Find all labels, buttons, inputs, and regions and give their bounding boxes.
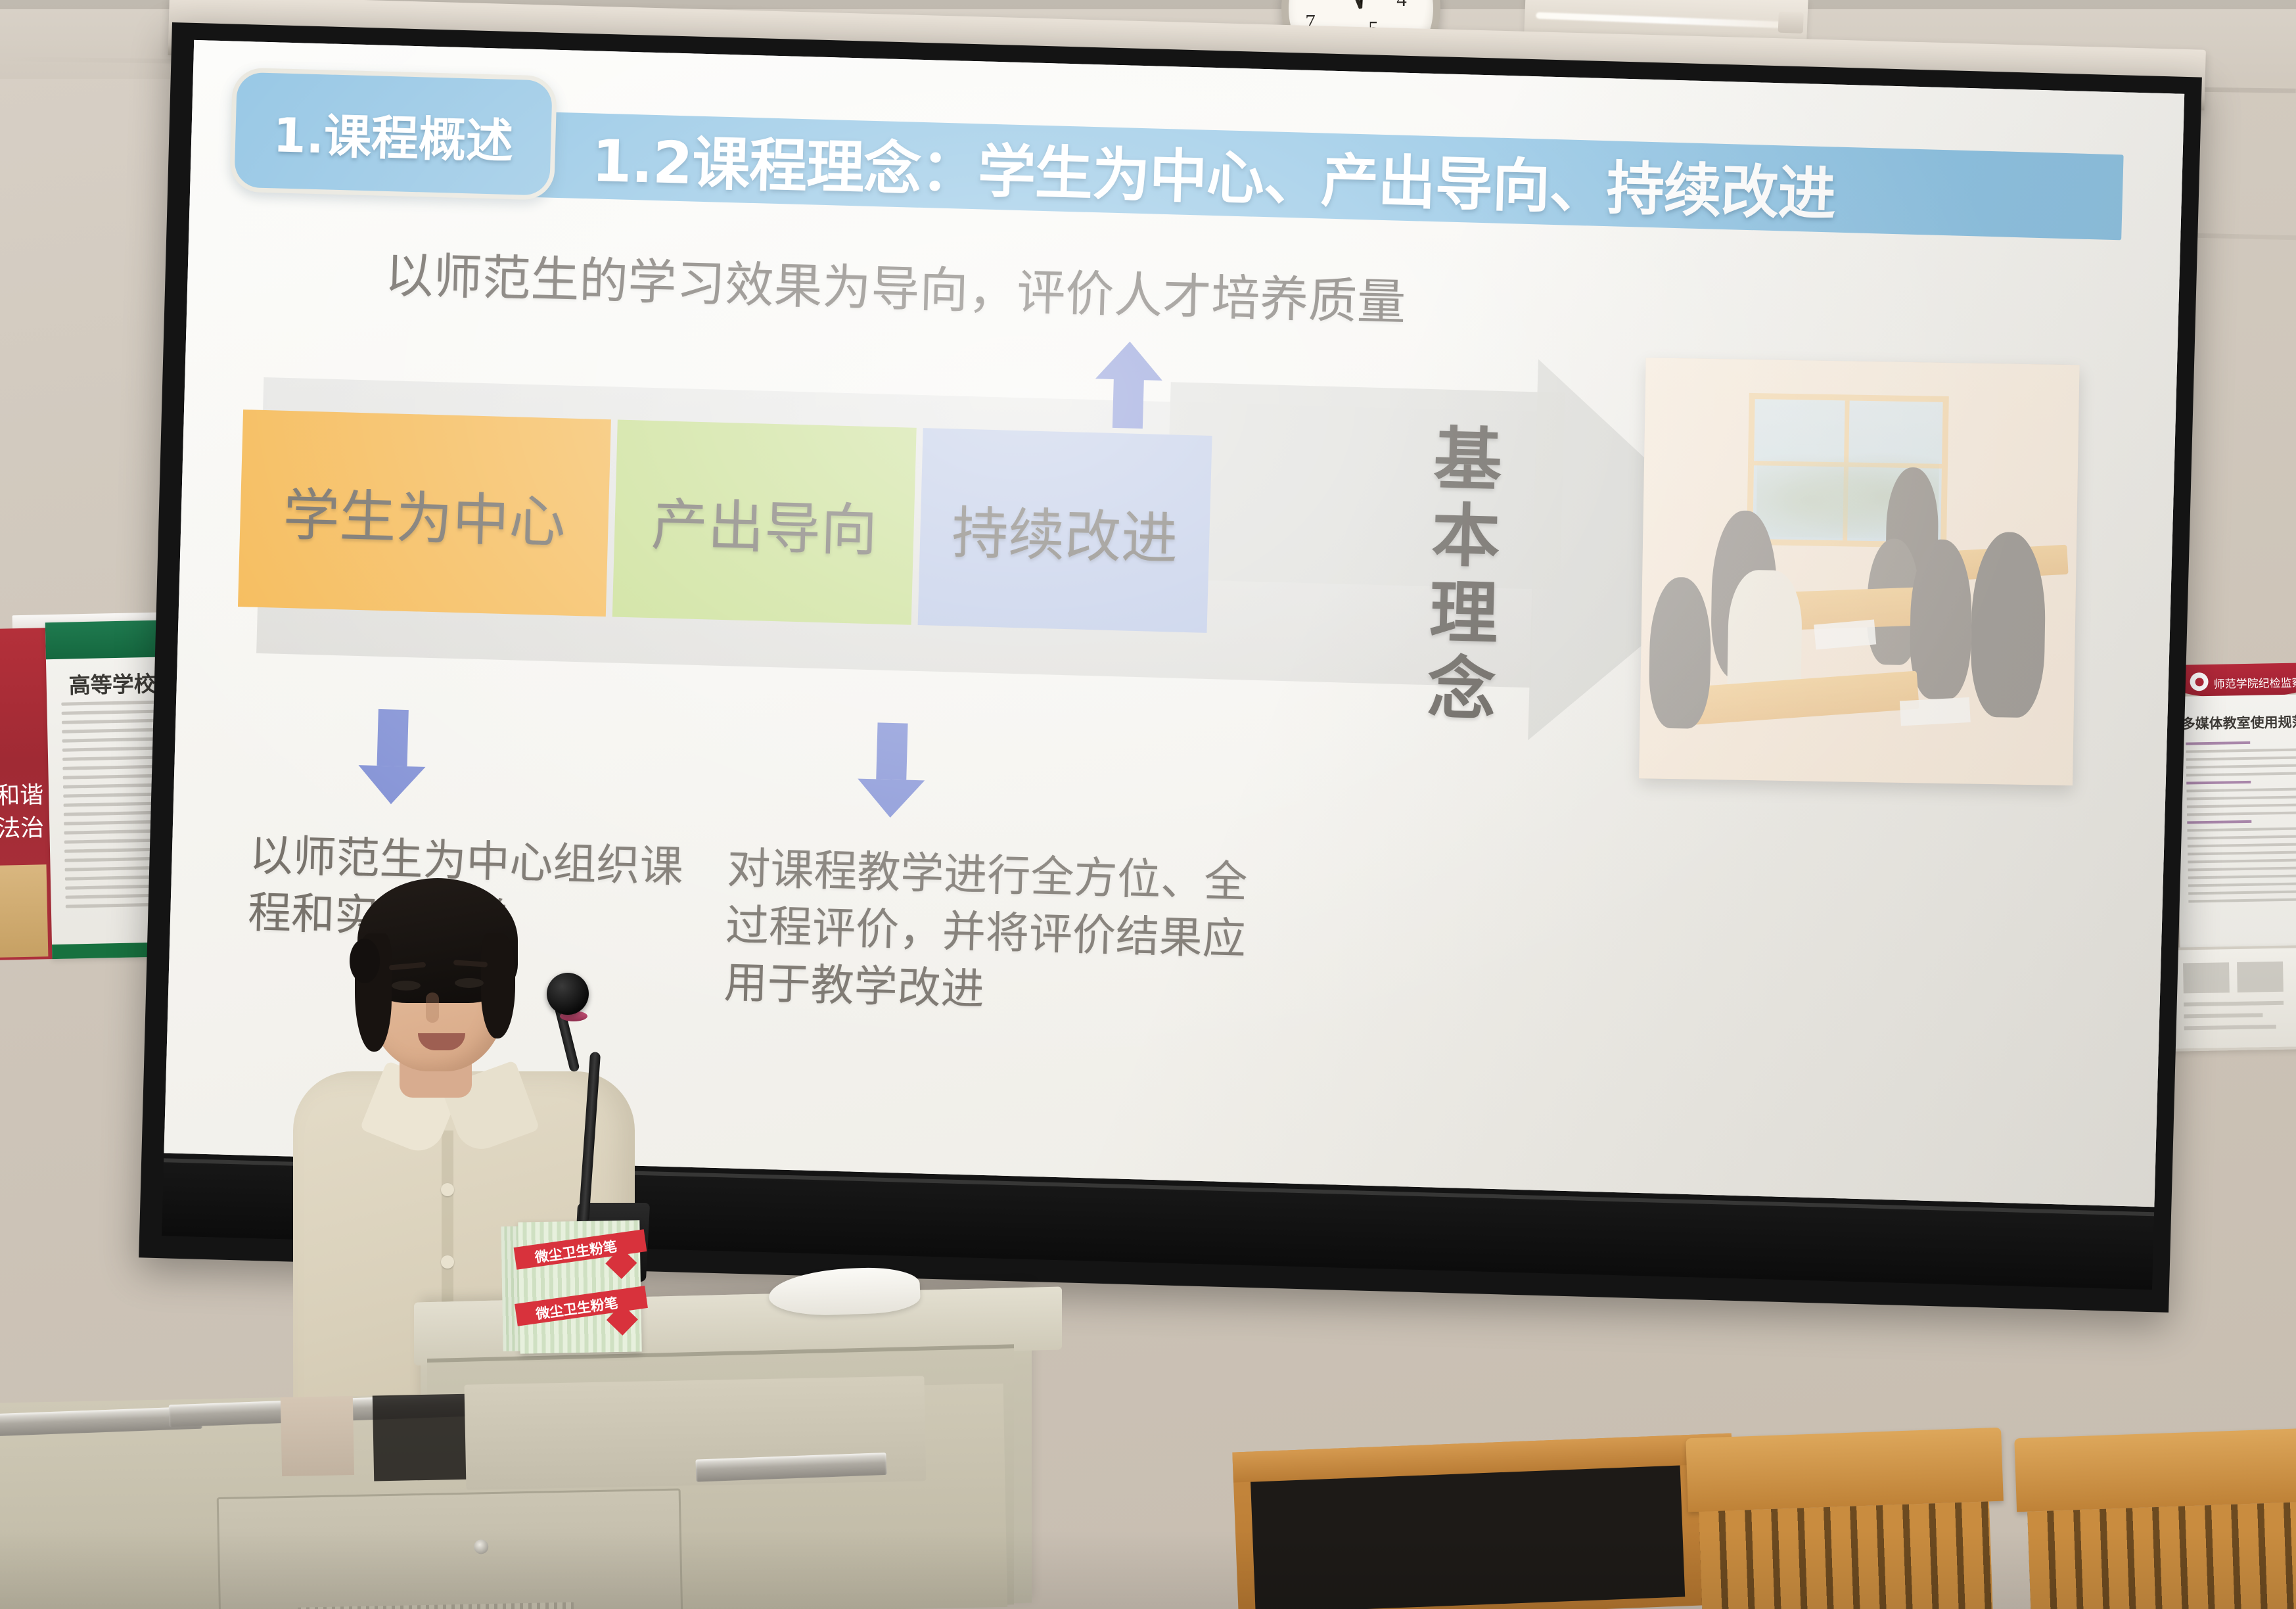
presenter-eye-left bbox=[392, 981, 421, 991]
chair-crest-rail bbox=[1686, 1428, 2004, 1512]
presenter-nose bbox=[426, 992, 439, 1023]
presenter-hair-bun bbox=[350, 939, 380, 983]
slide-note-right: 对课程教学进行全方位、全过程评价，并将评价结果应用于教学改进 bbox=[723, 840, 1280, 1027]
clock-hour-hand bbox=[1344, 0, 1363, 9]
poster-gold-block bbox=[0, 864, 48, 958]
wooden-chair bbox=[2014, 1428, 2296, 1609]
light-end-cap bbox=[1778, 11, 1804, 33]
chalk-box: 微尘卫生粉笔 微尘卫生粉笔 bbox=[518, 1220, 641, 1353]
slide-section-chip: 1.课程概述 bbox=[229, 68, 557, 200]
slide-title: 1.2课程理念：学生为中心、产出导向、持续改进 bbox=[591, 114, 1837, 231]
desk-support bbox=[281, 1396, 354, 1476]
slide-lead-text: 以师范生的学习效果为导向，评价人才培养质量 bbox=[384, 236, 1406, 334]
arrow-down-left-icon bbox=[357, 709, 427, 806]
chair-back-slats bbox=[1699, 1501, 1992, 1609]
front-metal-desk bbox=[0, 1384, 1007, 1609]
wall-info-frame bbox=[2171, 945, 2296, 1051]
chair-back-slats bbox=[2027, 1501, 2296, 1609]
shirt-button bbox=[441, 1183, 454, 1196]
classroom-photo bbox=[1639, 358, 2080, 785]
poster-strip-text: 和谐 法治 bbox=[0, 779, 54, 847]
wooden-chair bbox=[1686, 1428, 2007, 1609]
poster-right-title: 多媒体教室使用规范 bbox=[2176, 711, 2296, 734]
bench-shadow bbox=[1251, 1466, 1685, 1609]
arrow-up-icon bbox=[1094, 340, 1164, 429]
key-box-student-centered: 学生为中心 bbox=[238, 409, 611, 617]
poster-right-body-lines bbox=[2186, 740, 2296, 908]
school-logo-icon bbox=[2190, 672, 2208, 691]
chair-crest-rail bbox=[2014, 1428, 2296, 1512]
arrow-down-right-icon bbox=[857, 722, 927, 820]
desk-door-panel[interactable] bbox=[217, 1489, 685, 1609]
presenter-hair-right bbox=[481, 933, 515, 1038]
shirt-button bbox=[441, 1255, 454, 1269]
microphone-head-icon bbox=[547, 973, 589, 1015]
poster-header-text: 师范学院纪检监察室 bbox=[2213, 673, 2296, 691]
desk-shadow-gap bbox=[373, 1394, 472, 1481]
slide-title-bar: 1.2课程理念：学生为中心、产出导向、持续改进 bbox=[308, 106, 2124, 241]
slide-section-label: 1.课程概述 bbox=[272, 96, 514, 172]
light-tube bbox=[1536, 12, 1796, 29]
presenter-eye-right bbox=[455, 978, 484, 988]
wooden-bench bbox=[1232, 1434, 1737, 1609]
classroom-photo-scene: 3 4 5 6 7 8 和谐 法治 高等学校学生行为准则 bbox=[0, 0, 2296, 1609]
key-box-continuous-improvement: 持续改进 bbox=[918, 428, 1212, 633]
slide-arrow-label: 基本理念 bbox=[1352, 420, 1577, 732]
poster-red-header: 师范学院纪检监察室 bbox=[2175, 663, 2296, 699]
clock-number-4: 4 bbox=[1390, 0, 1413, 11]
key-box-outcome-based: 产出导向 bbox=[612, 420, 917, 625]
